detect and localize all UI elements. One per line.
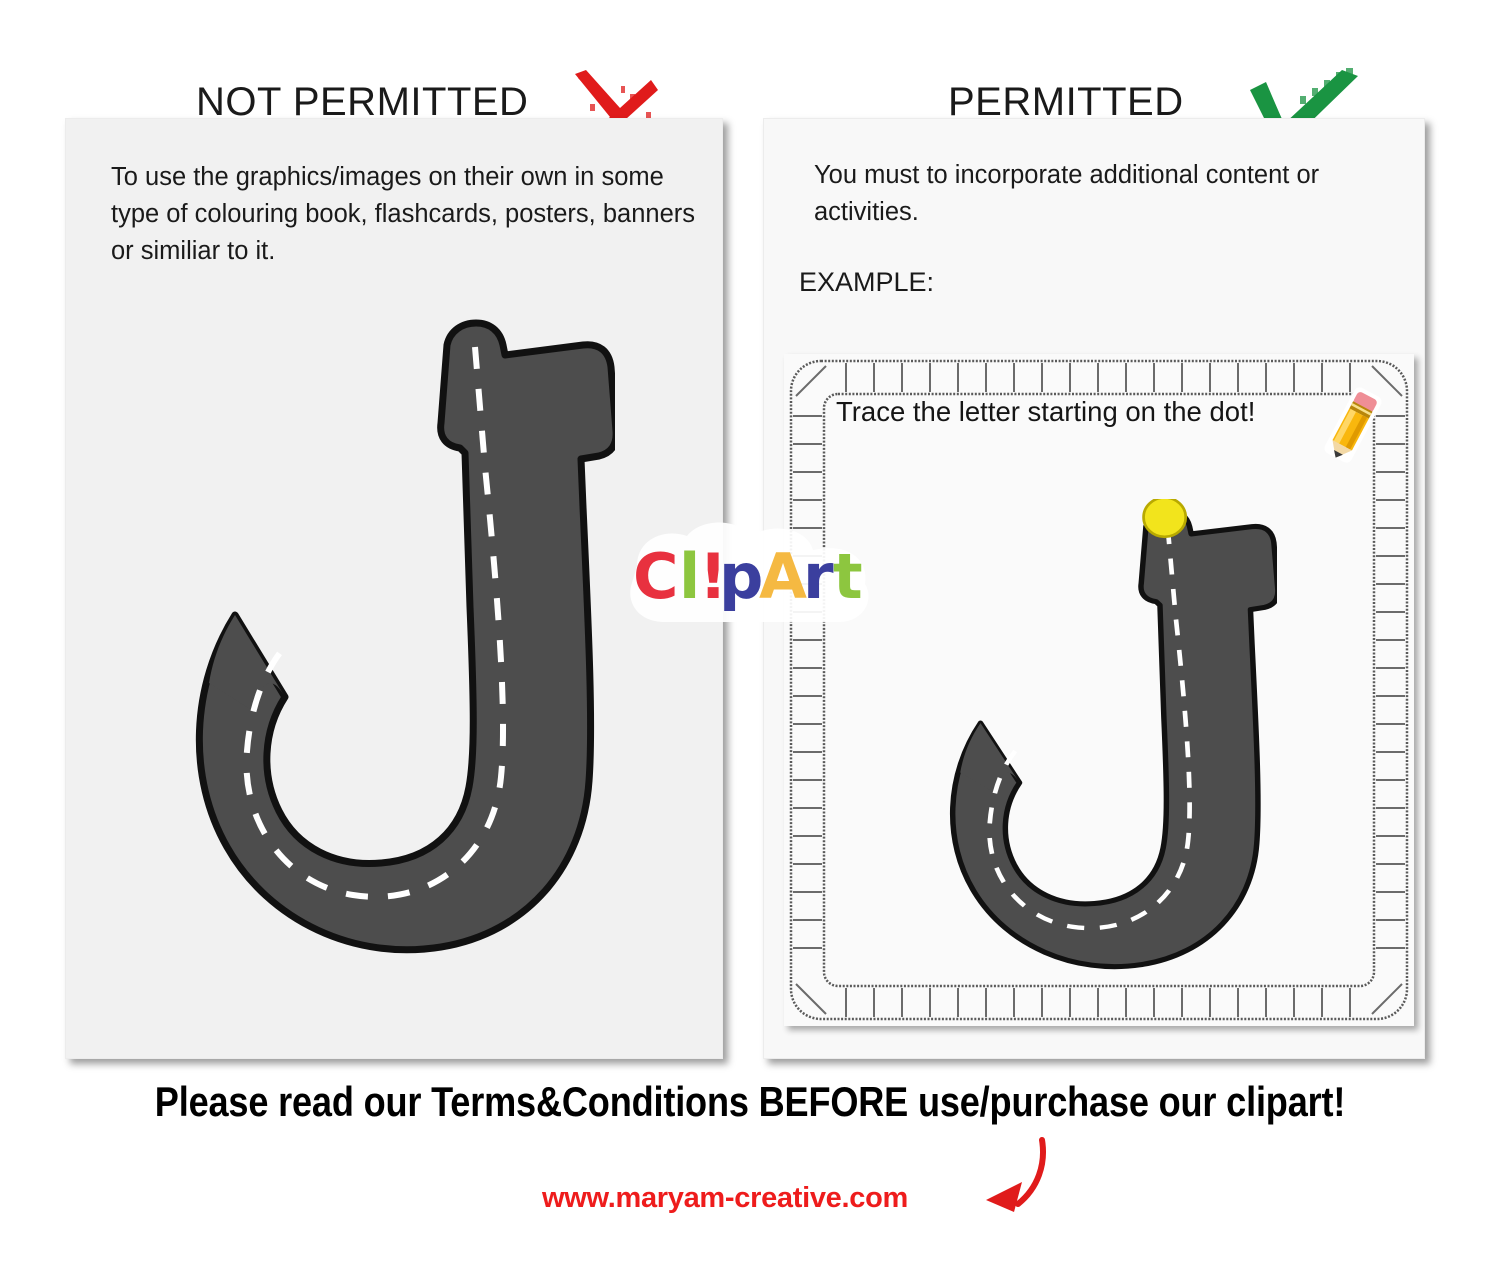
letter-j-road-graphic-traceable [929,499,1277,985]
terms-notice-text: Please read our Terms&Conditions BEFORE … [105,1078,1395,1126]
svg-text:t: t [833,540,863,613]
worksheet-instruction-text: Trace the letter starting on the dot! [836,396,1255,428]
svg-text:A: A [759,540,807,613]
clipart-watermark: C l ! p A r t Cl!pArt [617,512,885,638]
not-permitted-description: To use the graphics/images on their own … [111,159,716,270]
pencil-icon [1322,386,1384,464]
trace-start-dot [1144,499,1186,537]
example-label: EXAMPLE: [799,267,934,298]
letter-j-road-graphic [169,307,615,975]
worksheet-example: Trace the letter starting on the dot! [784,354,1414,1026]
svg-text:l: l [679,540,700,613]
website-url[interactable]: www.maryam-creative.com [0,1182,1500,1215]
svg-text:r: r [803,540,834,613]
svg-text:p: p [719,540,763,613]
svg-text:C: C [633,540,679,613]
permitted-description: You must to incorporate additional conte… [814,157,1404,231]
